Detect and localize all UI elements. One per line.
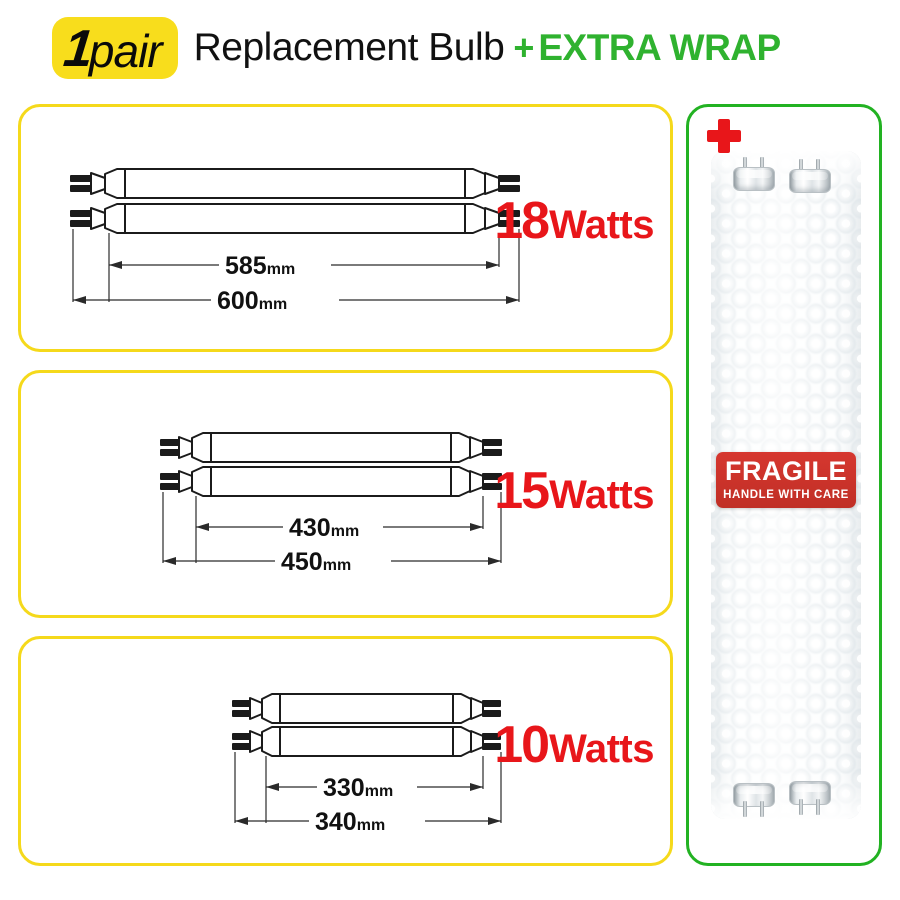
inner-dim-unit-18w: mm — [267, 261, 295, 278]
watts-value: 15 — [494, 465, 548, 517]
pin — [816, 799, 820, 815]
tube-end-cap-bottom-left — [733, 783, 775, 817]
extra-wrap-panel: FRAGILE HANDLE WITH CARE — [686, 104, 882, 866]
pin — [799, 799, 803, 815]
watts-label-15w: 15 Watts — [494, 465, 654, 517]
pin — [760, 801, 764, 817]
cap-body — [733, 783, 775, 807]
pair-count-badge: 1 pair — [52, 17, 178, 79]
tube-upper — [161, 433, 501, 462]
header-banner: 1 pair Replacement Bulb + EXTRA WRAP — [0, 0, 900, 96]
badge-word: pair — [89, 28, 162, 74]
plus-icon — [707, 119, 741, 153]
cap-body — [789, 781, 831, 805]
fragile-sub-label: HANDLE WITH CARE — [723, 490, 849, 502]
svg-text:430mm: 430mm — [289, 514, 359, 542]
outer-dim-unit-18w: mm — [259, 296, 287, 313]
dimension-arrowheads — [73, 261, 519, 304]
tube-lower — [161, 467, 501, 496]
cap-body — [733, 167, 775, 191]
outer-dim-unit-15w: mm — [323, 557, 351, 574]
tube-upper — [233, 694, 500, 723]
svg-text:600mm: 600mm — [217, 287, 287, 315]
dimension-lines — [73, 229, 519, 302]
bulb-spec-panel-10w: 330mm 340mm 10 Watts — [18, 636, 673, 866]
bulb-spec-panel-18w: 585mm 600mm 18 Watts — [18, 104, 673, 352]
inner-dim-value-18w: 585 — [225, 252, 267, 280]
tube-end-cap-top-left — [733, 157, 775, 191]
svg-text:585mm: 585mm — [225, 252, 295, 280]
header-highlight: EXTRA WRAP — [538, 27, 780, 69]
outer-dim-value-15w: 450 — [281, 548, 323, 576]
outer-dim-value-10w: 340 — [315, 808, 357, 836]
fragile-label: FRAGILE — [725, 458, 847, 485]
tube-end-cap-top-right — [789, 159, 831, 193]
pin — [743, 801, 747, 817]
outer-dim-unit-10w: mm — [357, 817, 385, 834]
bulb-spec-panel-15w: 430mm 450mm 15 Watts — [18, 370, 673, 618]
tube-end-cap-bottom-right — [789, 781, 831, 815]
svg-text:450mm: 450mm — [281, 548, 351, 576]
infographic-page: 1 pair Replacement Bulb + EXTRA WRAP — [0, 0, 900, 900]
cap-body — [789, 169, 831, 193]
svg-text:330mm: 330mm — [323, 774, 393, 802]
inner-dim-value-15w: 430 — [289, 514, 331, 542]
outer-dim-value-18w: 600 — [217, 287, 259, 315]
watts-unit: Watts — [549, 205, 654, 245]
watts-unit: Watts — [549, 475, 654, 515]
tube-upper — [71, 169, 519, 198]
watts-value: 18 — [494, 195, 548, 247]
tube-lower — [71, 204, 519, 233]
inner-dim-value-10w: 330 — [323, 774, 365, 802]
fragile-sticker: FRAGILE HANDLE WITH CARE — [716, 452, 856, 508]
svg-text:340mm: 340mm — [315, 808, 385, 836]
tube-lower — [233, 727, 500, 756]
inner-dim-unit-15w: mm — [331, 523, 359, 540]
watts-label-10w: 10 Watts — [494, 719, 654, 771]
header-title: Replacement Bulb — [194, 26, 505, 70]
header-plus-symbol: + — [513, 27, 534, 69]
inner-dim-unit-10w: mm — [365, 783, 393, 800]
watts-label-18w: 18 Watts — [494, 195, 654, 247]
watts-value: 10 — [494, 719, 548, 771]
watts-unit: Watts — [549, 729, 654, 769]
